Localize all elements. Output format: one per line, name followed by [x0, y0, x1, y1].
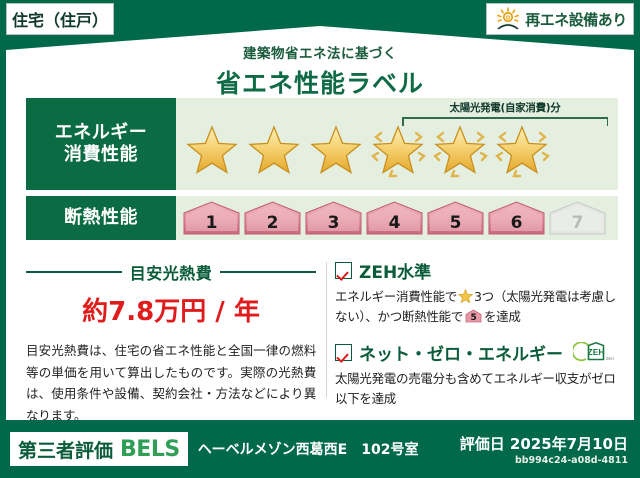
insulation-scale: 1 2 3 4	[176, 200, 607, 236]
svg-text:ZEH: ZEH	[606, 356, 614, 361]
criterion-description: エネルギー消費性能で3つ（太陽光発電は考慮しない）、かつ断熱性能で5を達成	[335, 287, 620, 328]
renewable-energy-badge: D 再エネ設備あり	[486, 3, 634, 35]
solar-bracket-tick-right	[607, 117, 609, 126]
evaluation-date: 評価日 2025年7月10日	[460, 433, 628, 454]
building-type-label: 住宅（住戸）	[12, 7, 108, 31]
criteria-column: ZEH水準 エネルギー消費性能で3つ（太陽光発電は考慮しない）、かつ断熱性能で5…	[335, 258, 620, 414]
title-block: 建築物省エネ法に基づく 省エネ性能ラベル	[6, 42, 634, 100]
energy-performance-body: 太陽光発電(自家消費)分	[176, 98, 618, 190]
house-level-number: 5	[426, 213, 485, 233]
energy-performance-row: エネルギー消費性能 太陽光発電(自家消費)分	[26, 98, 618, 190]
cost-heading: 目安光熱費	[130, 260, 213, 284]
checkmark-icon	[335, 344, 352, 361]
house-icon: 4	[365, 200, 424, 236]
sun-icon: D	[495, 7, 521, 31]
star-icon	[458, 289, 473, 303]
insulation-performance-body: 1 2 3 4	[176, 196, 618, 240]
cost-rule-right	[220, 271, 316, 273]
cost-note: 目安光熱費は、住宅の省エネ性能と全国一律の燃料等の単価を用いて算出したものです。…	[26, 340, 316, 426]
criterion-desc-part1: エネルギー消費性能で	[335, 289, 457, 304]
column-divider	[326, 262, 327, 398]
criterion-net-zero-energy: ネット・ゼロ・エネルギー ZEH ZEH 太陽光発電の売電分も含めてエネル	[335, 340, 620, 410]
zeh-logo-icon: ZEH ZEH	[573, 342, 617, 362]
bels-name-label: BELS	[120, 437, 180, 462]
house-level-number: 6	[487, 213, 546, 233]
star-item-solar	[368, 119, 429, 179]
energy-label-root: 住宅（住戸） D 再エネ設備あり	[0, 0, 640, 478]
house-level-number: 2	[243, 213, 302, 233]
label-panel: 建築物省エネ法に基づく 省エネ性能ラベル エネルギー消費性能 太陽光発電(自家消…	[6, 26, 634, 420]
checkmark-icon	[335, 262, 352, 279]
title-subtitle: 建築物省エネ法に基づく	[6, 42, 634, 62]
bels-prefix-label: 第三者評価	[18, 436, 113, 463]
star-item	[306, 119, 367, 179]
house-icon: 2	[243, 200, 302, 236]
star-rating	[176, 119, 553, 179]
cost-heading-row: 目安光熱費	[26, 260, 316, 284]
insulation-performance-header: 断熱性能	[26, 196, 176, 240]
evaluation-id: bb994c24-a08d-4811	[460, 455, 628, 466]
label-footer: 第三者評価 BELS ヘーベルメゾン西葛西E 102号室 評価日 2025年7月…	[6, 426, 634, 472]
energy-performance-header: エネルギー消費性能	[26, 98, 176, 190]
criterion-title: ZEH水準	[359, 258, 431, 283]
evaluation-info: 評価日 2025年7月10日 bb994c24-a08d-4811	[460, 433, 634, 466]
energy-performance-label: エネルギー消費性能	[55, 122, 148, 167]
cost-column: 目安光熱費 約7.8万円 / 年 目安光熱費は、住宅の省エネ性能と全国一律の燃料…	[26, 258, 326, 414]
svg-text:ZEH: ZEH	[588, 347, 605, 357]
insulation-performance-label: 断熱性能	[64, 207, 138, 230]
building-type-badge: 住宅（住戸）	[6, 3, 114, 35]
star-item	[244, 119, 305, 179]
cost-value: 約7.8万円 / 年	[26, 291, 316, 328]
star-item-solar	[492, 119, 553, 179]
bels-badge: 第三者評価 BELS	[10, 432, 188, 466]
house-level-number: 1	[182, 213, 241, 233]
house-icon: 3	[304, 200, 363, 236]
criterion-title-row: ZEH水準	[335, 258, 620, 283]
details-section: 目安光熱費 約7.8万円 / 年 目安光熱費は、住宅の省エネ性能と全国一律の燃料…	[26, 258, 620, 414]
solar-bracket-label: 太陽光発電(自家消費)分	[400, 100, 610, 115]
house-level-number: 5	[465, 314, 482, 323]
house-icon-inactive: 7	[548, 200, 607, 236]
criterion-desc-part3: を達成	[484, 309, 521, 324]
page-title: 省エネ性能ラベル	[6, 64, 634, 100]
criterion-zeh-level: ZEH水準 エネルギー消費性能で3つ（太陽光発電は考慮しない）、かつ断熱性能で5…	[335, 258, 620, 328]
house-icon: 1	[182, 200, 241, 236]
performance-rows: エネルギー消費性能 太陽光発電(自家消費)分	[26, 98, 618, 246]
property-name: ヘーベルメゾン西葛西E 102号室	[198, 439, 419, 459]
insulation-performance-row: 断熱性能 1 2	[26, 196, 618, 240]
house-icon: 5	[465, 309, 482, 323]
house-level-number: 7	[548, 213, 607, 233]
star-item-solar	[430, 119, 491, 179]
house-level-number: 3	[304, 213, 363, 233]
criterion-description: 太陽光発電の売電分も含めてエネルギー収支がゼロ以下を達成	[335, 369, 620, 410]
svg-text:D: D	[506, 16, 511, 22]
house-icon: 6	[487, 200, 546, 236]
criterion-title-row: ネット・ゼロ・エネルギー ZEH ZEH	[335, 340, 620, 365]
house-icon: 5	[426, 200, 485, 236]
house-level-number: 4	[365, 213, 424, 233]
cost-rule-left	[26, 271, 122, 273]
renewable-energy-label: 再エネ設備あり	[525, 9, 627, 30]
star-item	[182, 119, 243, 179]
criterion-title: ネット・ゼロ・エネルギー	[359, 340, 563, 365]
